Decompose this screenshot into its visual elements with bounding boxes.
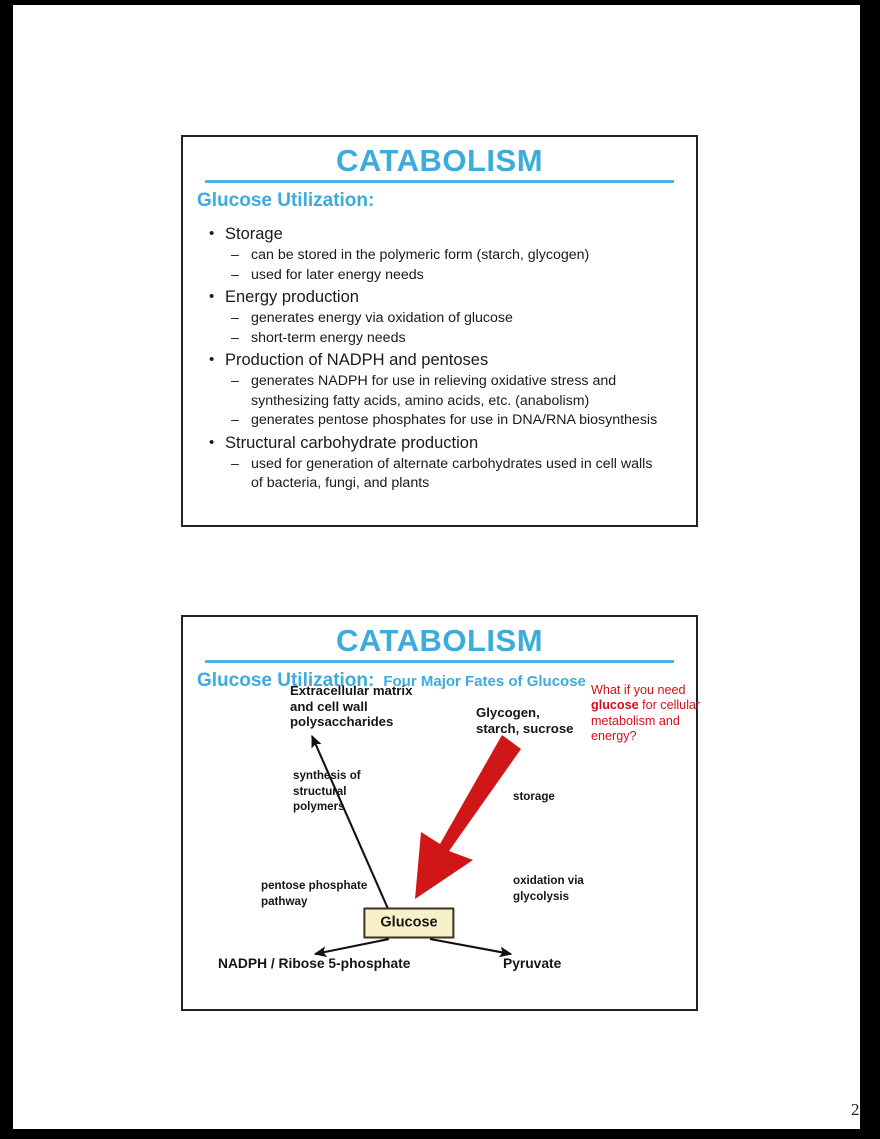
sub-bullet: used for generation of alternate carbohy… [207,455,696,494]
diagram-edge-label-synthesis: synthesis of structural polymers [293,768,361,815]
sub-bullet: short-term energy needs [207,329,696,349]
slide-1-bullet-list: Storage can be stored in the polymeric f… [207,223,696,494]
diagram-edge-label-oxidation-glycolysis: oxidation via glycolysis [513,873,584,904]
sub-bullet-line-wrap: of bacteria, fungi, and plants [251,474,696,494]
sub-bullet: generates pentose phosphates for use in … [207,411,696,431]
bullet-energy-production: Energy production [207,286,696,309]
diagram-edge-label-storage: storage [513,789,555,805]
sub-bullet: generates energy via oxidation of glucos… [207,309,696,329]
bullet-storage: Storage [207,223,696,246]
title-underline-rule [205,180,674,183]
diagram-node-glucose: Glucose [363,908,454,939]
slide-1-subtitle-row: Glucose Utilization: [197,190,696,211]
diagram-edge-label-pentose-phosphate-pathway: pentose phosphate pathway [261,878,367,909]
slide-2-title: CATABOLISM [183,624,696,658]
sub-bullet-line: generates NADPH for use in relieving oxi… [251,373,616,389]
sub-bullet-line: used for generation of alternate carbohy… [251,456,652,472]
slide-1-subtitle: Glucose Utilization: [197,190,374,211]
bullet-structural-carbohydrate: Structural carbohydrate production [207,432,696,455]
diagram-label-glycogen-starch-sucrose: Glycogen, starch, sucrose [476,705,574,736]
arrow-to-pyruvate [430,939,511,954]
arrow-to-nadph-ribose [315,939,389,954]
slide-1-title: CATABOLISM [183,144,696,178]
diagram-label-extracellular-matrix: Extracellular matrix and cell wall polys… [290,683,412,730]
slide-2: CATABOLISM Glucose Utilization: Four Maj… [181,615,698,1011]
sub-bullet-line-wrap: synthesizing fatty acids, amino acids, e… [251,392,696,412]
four-fates-diagram: Extracellular matrix and cell wall polys… [183,683,696,1009]
red-storage-arrow [415,735,521,899]
page-number: 2 [851,1100,860,1120]
sub-bullet: can be stored in the polymeric form (sta… [207,246,696,266]
slide-1: CATABOLISM Glucose Utilization: Storage … [181,135,698,527]
diagram-label-nadph-ribose-5-phosphate: NADPH / Ribose 5-phosphate [218,956,410,972]
diagram-label-pyruvate: Pyruvate [503,956,561,972]
bullet-nadph-pentoses: Production of NADPH and pentoses [207,349,696,372]
title-underline-rule [205,660,674,663]
sub-bullet: used for later energy needs [207,266,696,286]
sub-bullet: generates NADPH for use in relieving oxi… [207,372,696,411]
page-sheet: CATABOLISM Glucose Utilization: Storage … [13,5,860,1129]
